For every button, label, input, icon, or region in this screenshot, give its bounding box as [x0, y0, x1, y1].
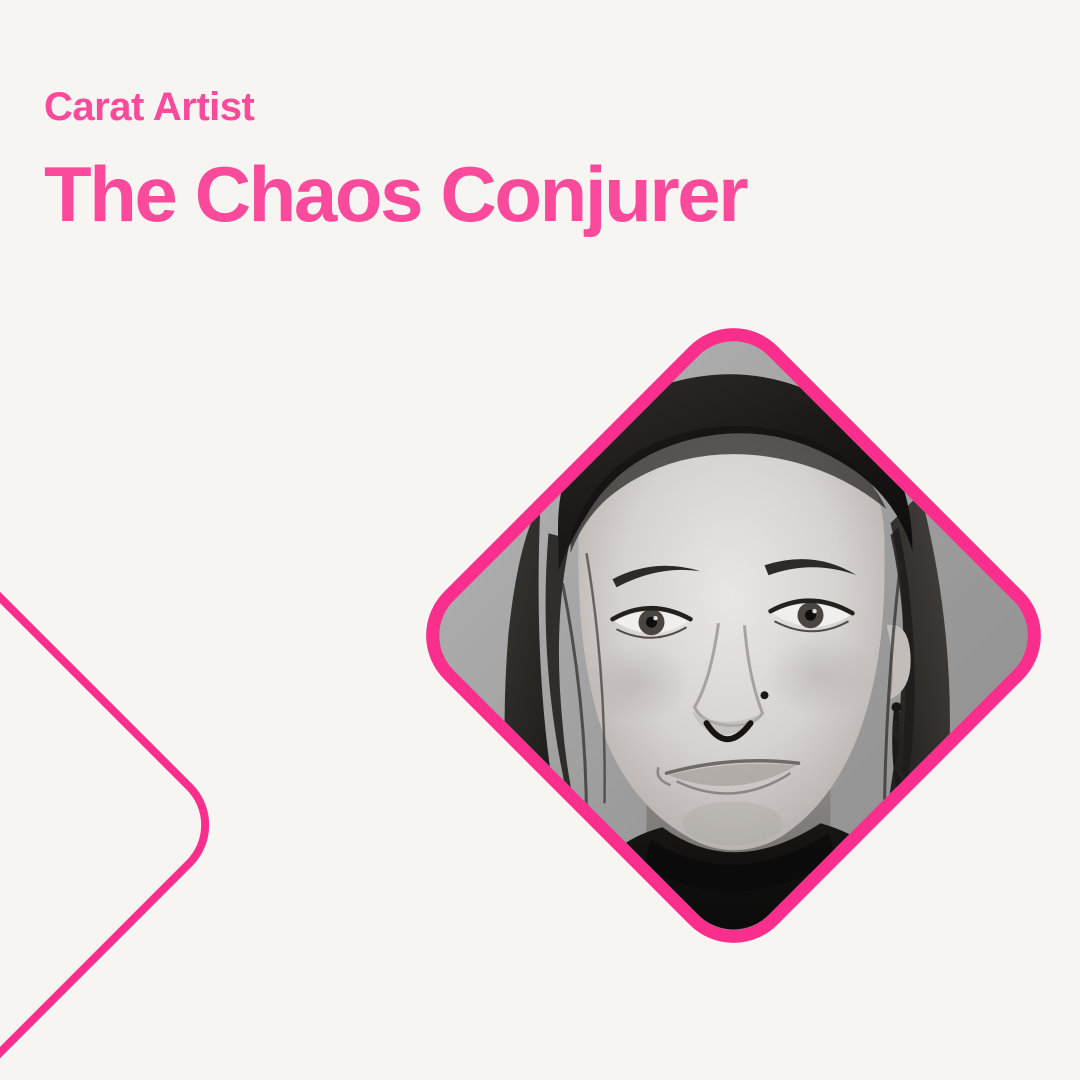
portrait-diamond-frame	[400, 302, 1066, 968]
decorative-diamond-outline	[0, 600, 190, 1080]
decorative-diamond-outline-shape	[0, 507, 233, 1080]
eyebrow-label: Carat Artist	[44, 84, 944, 130]
portrait-photo	[418, 320, 1047, 949]
page-title: The Chaos Conjurer	[44, 152, 944, 236]
portrait-alt-text: Black and white portrait photo of a smil…	[400, 302, 401, 303]
artist-portrait: Black and white portrait photo of a smil…	[400, 302, 1066, 968]
portrait-clip	[418, 320, 1047, 949]
header-text-block: Carat Artist The Chaos Conjurer	[44, 84, 944, 236]
artist-card: Carat Artist The Chaos Conjurer	[0, 0, 1080, 1080]
